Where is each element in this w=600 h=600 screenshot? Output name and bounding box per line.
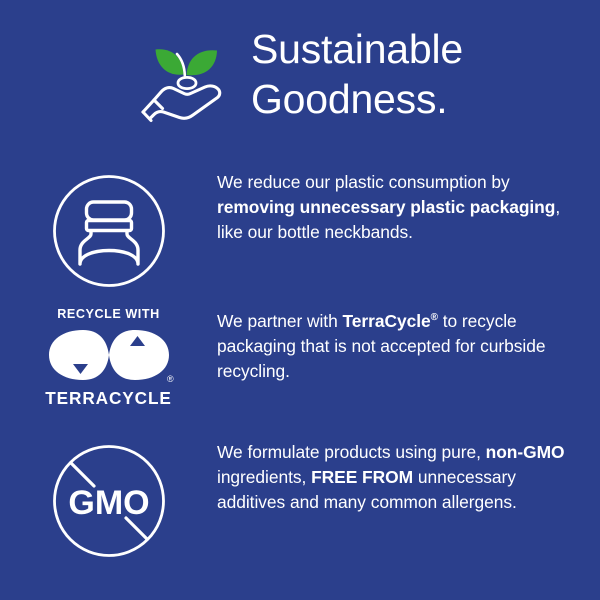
gmo-label: GMO — [68, 484, 149, 522]
icon-cell: RECYCLE WITH ® TERRACYCLE — [0, 305, 217, 409]
feature-row-plastic: We reduce our plastic consumption by rem… — [0, 170, 600, 290]
text-segment: ingredients, — [217, 467, 311, 487]
header: Sustainable Goodness. — [0, 26, 600, 122]
feature-text-plastic: We reduce our plastic consumption by rem… — [217, 170, 584, 245]
text-segment-bold: non-GMO — [486, 442, 565, 462]
feature-row-terracycle: RECYCLE WITH ® TERRACYCLE We part — [0, 305, 600, 409]
hand-holding-sprout-icon — [137, 30, 237, 126]
feature-row-nongmo: GMO We formulate products using pure, no… — [0, 440, 600, 560]
feature-text-terracycle: We partner with TerraCycle® to recycle p… — [217, 305, 584, 384]
text-segment: We partner with — [217, 311, 343, 331]
text-segment-bold: removing unnecessary plastic packaging — [217, 197, 555, 217]
terracycle-bottom-label: TERRACYCLE — [45, 388, 171, 409]
no-gmo-circle-icon: GMO — [50, 442, 168, 560]
registered-mark: ® — [167, 374, 174, 384]
registered-superscript: ® — [431, 312, 438, 323]
title-line-2: Goodness. — [251, 79, 463, 120]
text-segment: We reduce our plastic consumption by — [217, 172, 510, 192]
text-segment: We formulate products using pure, — [217, 442, 486, 462]
text-segment-bold: TerraCycle — [343, 311, 431, 331]
title-line-1: Sustainable — [251, 29, 463, 70]
icon-cell: GMO — [0, 440, 217, 560]
sustainability-infographic: Sustainable Goodness. We reduce our plas — [0, 0, 600, 600]
text-cell: We formulate products using pure, non-GM… — [217, 440, 600, 515]
terracycle-top-label: RECYCLE WITH — [57, 307, 159, 321]
feature-text-nongmo: We formulate products using pure, non-GM… — [217, 440, 584, 515]
header-title: Sustainable Goodness. — [251, 29, 463, 120]
icon-cell — [0, 170, 217, 290]
text-cell: We reduce our plastic consumption by rem… — [217, 170, 600, 245]
plastic-bottle-circle-icon — [50, 172, 168, 290]
infinity-recycle-loop-icon: ® — [43, 324, 175, 386]
terracycle-logo: RECYCLE WITH ® TERRACYCLE — [43, 307, 175, 409]
text-cell: We partner with TerraCycle® to recycle p… — [217, 305, 600, 384]
text-segment-bold: FREE FROM — [311, 467, 413, 487]
